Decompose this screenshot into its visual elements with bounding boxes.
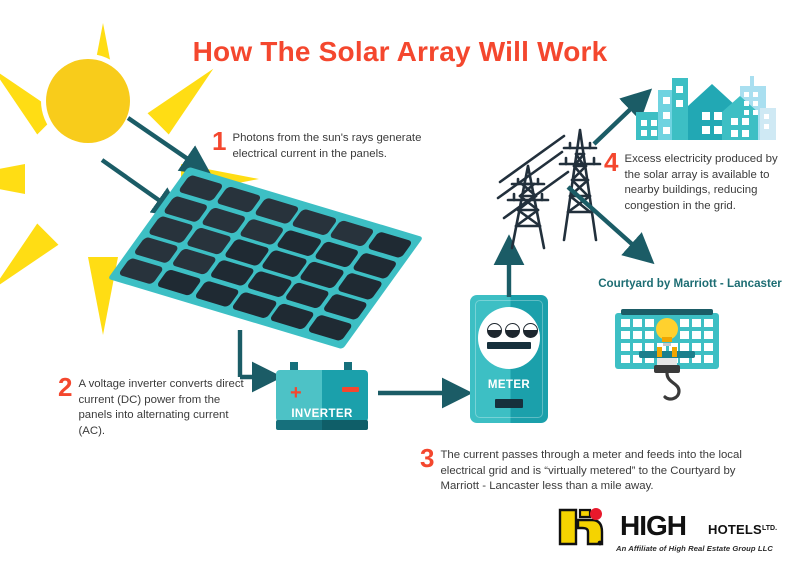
infographic-canvas: How The Solar Array Will Work	[0, 0, 800, 577]
step-2-number: 2	[58, 375, 72, 400]
plus-sign: +	[290, 383, 302, 403]
logo-ltd: LTD.	[762, 525, 777, 532]
arrow-inverter-to-meter	[378, 386, 468, 400]
step-4-number: 4	[604, 150, 618, 175]
step-1-number: 1	[212, 129, 226, 154]
inverter-label: INVERTER	[276, 408, 368, 420]
step-3: 3 The current passes through a meter and…	[420, 448, 750, 495]
step-1: 1 Photons from the sun's rays generate e…	[212, 131, 437, 162]
hotel-label: Courtyard by Marriott - Lancaster	[592, 277, 788, 292]
hotel-with-lightbulb-icon	[613, 307, 721, 403]
high-hotels-logo: HIGH HOTELS LTD. An Affiliate of High Re…	[556, 508, 790, 560]
step-4: 4 Excess electricity produced by the sol…	[604, 152, 784, 214]
logo-wordmark: HIGH	[620, 510, 686, 542]
meter-icon: METER	[470, 295, 548, 423]
step-1-text: Photons from the sun's rays generate ele…	[232, 131, 437, 162]
arrow-meter-to-grid	[501, 247, 517, 299]
logo-tagline: An Affiliate of High Real Estate Group L…	[616, 544, 773, 553]
step-2-text: A voltage inverter converts direct curre…	[78, 377, 248, 439]
step-3-number: 3	[420, 446, 434, 471]
step-4-text: Excess electricity produced by the solar…	[624, 152, 784, 214]
step-2: 2 A voltage inverter converts direct cur…	[58, 377, 248, 439]
solar-panel-icon	[88, 212, 343, 332]
city-buildings-icon	[636, 72, 776, 140]
logo-sub: HOTELS	[708, 522, 762, 537]
inverter-icon: + INVERTER	[276, 362, 368, 434]
minus-sign	[342, 387, 359, 392]
high-h-monogram-icon	[556, 508, 614, 548]
step-3-text: The current passes through a meter and f…	[440, 448, 750, 495]
meter-label: METER	[470, 379, 548, 391]
